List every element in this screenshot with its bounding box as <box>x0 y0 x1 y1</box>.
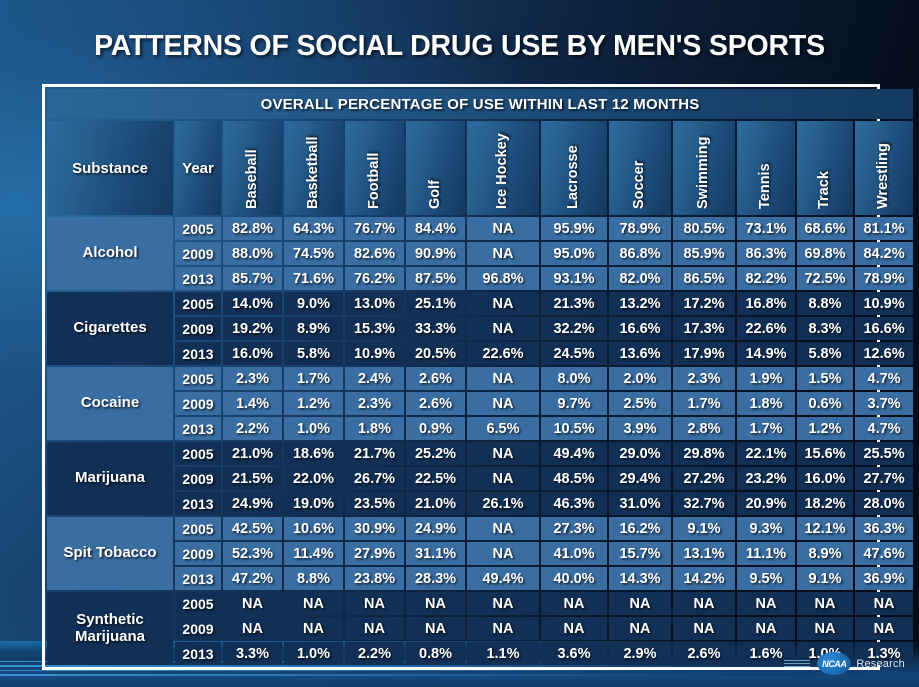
value-cell: 17.9% <box>673 342 735 365</box>
table-row: Cocaine20052.3%1.7%2.4%2.6%NA8.0%2.0%2.3… <box>47 367 913 390</box>
value-cell: 16.6% <box>855 317 913 340</box>
table-header-baseball: Baseball <box>223 121 282 215</box>
ncaa-research-logo: NCAA Research <box>784 652 905 675</box>
year-cell: 2009 <box>175 392 221 415</box>
value-cell: 9.1% <box>673 517 735 540</box>
value-cell: 9.3% <box>737 517 795 540</box>
value-cell: 2.6% <box>406 367 465 390</box>
value-cell: 24.5% <box>541 342 607 365</box>
table-header-row: SubstanceYearBaseballBasketballFootballG… <box>47 121 913 215</box>
value-cell: 26.7% <box>345 467 404 490</box>
value-cell: 23.5% <box>345 492 404 515</box>
value-cell: 16.6% <box>609 317 671 340</box>
value-cell: 13.6% <box>609 342 671 365</box>
value-cell: 11.4% <box>284 542 343 565</box>
year-cell: 2013 <box>175 342 221 365</box>
value-cell: 1.9% <box>737 367 795 390</box>
table-row: 201347.2%8.8%23.8%28.3%49.4%40.0%14.3%14… <box>47 567 913 590</box>
value-cell: 76.7% <box>345 217 404 240</box>
value-cell: 1.8% <box>737 392 795 415</box>
value-cell: NA <box>467 442 539 465</box>
table-header-swimming: Swimming <box>673 121 735 215</box>
value-cell: 3.6% <box>541 642 607 665</box>
value-cell: 71.6% <box>284 267 343 290</box>
year-cell: 2009 <box>175 617 221 640</box>
table-head: OVERALL PERCENTAGE OF USE WITHIN LAST 12… <box>47 89 913 215</box>
value-cell: 40.0% <box>541 567 607 590</box>
value-cell: 49.4% <box>467 567 539 590</box>
table-header-tennis: Tennis <box>737 121 795 215</box>
table-body: Alcohol200582.8%64.3%76.7%84.4%NA95.9%78… <box>47 217 913 665</box>
value-cell: 13.0% <box>345 292 404 315</box>
value-cell: 1.8% <box>345 417 404 440</box>
year-cell: 2009 <box>175 242 221 265</box>
value-cell: 95.9% <box>541 217 607 240</box>
value-cell: 73.1% <box>737 217 795 240</box>
table-row: 20132.2%1.0%1.8%0.9%6.5%10.5%3.9%2.8%1.7… <box>47 417 913 440</box>
slide-canvas: PATTERNS OF SOCIAL DRUG USE BY MEN'S SPO… <box>0 0 919 687</box>
value-cell: NA <box>345 592 404 615</box>
value-cell: 20.9% <box>737 492 795 515</box>
value-cell: NA <box>467 542 539 565</box>
value-cell: 85.7% <box>223 267 282 290</box>
table-row: 201385.7%71.6%76.2%87.5%96.8%93.1%82.0%8… <box>47 267 913 290</box>
value-cell: 3.3% <box>223 642 282 665</box>
table-row: 200919.2%8.9%15.3%33.3%NA32.2%16.6%17.3%… <box>47 317 913 340</box>
value-cell: NA <box>467 592 539 615</box>
value-cell: 88.0% <box>223 242 282 265</box>
value-cell: 8.0% <box>541 367 607 390</box>
ncaa-mark-text: NCAA <box>822 659 846 669</box>
table-header-label: Ice Hockey <box>494 133 510 209</box>
value-cell: 13.2% <box>609 292 671 315</box>
value-cell: NA <box>737 617 795 640</box>
value-cell: 6.5% <box>467 417 539 440</box>
value-cell: 48.5% <box>541 467 607 490</box>
value-cell: 2.6% <box>673 642 735 665</box>
value-cell: 2.2% <box>223 417 282 440</box>
value-cell: 15.7% <box>609 542 671 565</box>
value-cell: 23.8% <box>345 567 404 590</box>
ncaa-badge-icon: NCAA <box>817 652 851 675</box>
value-cell: 81.1% <box>855 217 913 240</box>
value-cell: NA <box>737 592 795 615</box>
value-cell: 1.0% <box>284 417 343 440</box>
value-cell: 2.3% <box>223 367 282 390</box>
value-cell: 2.3% <box>673 367 735 390</box>
value-cell: 14.0% <box>223 292 282 315</box>
value-cell: NA <box>541 617 607 640</box>
year-cell: 2013 <box>175 567 221 590</box>
value-cell: 10.5% <box>541 417 607 440</box>
logo-research-label: Research <box>856 658 905 670</box>
table-header-label: Substance <box>72 160 148 177</box>
table-header-year: Year <box>175 121 221 215</box>
value-cell: 10.9% <box>855 292 913 315</box>
value-cell: NA <box>797 617 853 640</box>
value-cell: 2.3% <box>345 392 404 415</box>
value-cell: 19.2% <box>223 317 282 340</box>
value-cell: NA <box>855 592 913 615</box>
value-cell: NA <box>284 617 343 640</box>
table-row: 201316.0%5.8%10.9%20.5%22.6%24.5%13.6%17… <box>47 342 913 365</box>
value-cell: 0.9% <box>406 417 465 440</box>
value-cell: 27.9% <box>345 542 404 565</box>
value-cell: NA <box>406 592 465 615</box>
value-cell: 2.0% <box>609 367 671 390</box>
value-cell: 86.3% <box>737 242 795 265</box>
table-row: Cigarettes200514.0%9.0%13.0%25.1%NA21.3%… <box>47 292 913 315</box>
slide-title: PATTERNS OF SOCIAL DRUG USE BY MEN'S SPO… <box>0 30 919 63</box>
value-cell: 27.3% <box>541 517 607 540</box>
value-cell: 78.9% <box>609 217 671 240</box>
value-cell: NA <box>467 317 539 340</box>
value-cell: 95.0% <box>541 242 607 265</box>
value-cell: NA <box>797 592 853 615</box>
value-cell: 29.0% <box>609 442 671 465</box>
value-cell: 41.0% <box>541 542 607 565</box>
year-cell: 2013 <box>175 417 221 440</box>
value-cell: 21.5% <box>223 467 282 490</box>
value-cell: 13.1% <box>673 542 735 565</box>
table-row: 2009NANANANANANANANANANANA <box>47 617 913 640</box>
value-cell: 68.6% <box>797 217 853 240</box>
value-cell: 28.3% <box>406 567 465 590</box>
year-cell: 2005 <box>175 592 221 615</box>
value-cell: 2.4% <box>345 367 404 390</box>
table-header-label: Track <box>816 171 832 209</box>
value-cell: 76.2% <box>345 267 404 290</box>
value-cell: 47.2% <box>223 567 282 590</box>
value-cell: 33.3% <box>406 317 465 340</box>
value-cell: 29.8% <box>673 442 735 465</box>
data-table-frame: OVERALL PERCENTAGE OF USE WITHIN LAST 12… <box>42 84 880 670</box>
value-cell: 9.7% <box>541 392 607 415</box>
table-header-label: Wrestling <box>875 143 891 209</box>
table-header-substance: Substance <box>47 121 173 215</box>
value-cell: 2.9% <box>609 642 671 665</box>
value-cell: 19.0% <box>284 492 343 515</box>
table-row: 200921.5%22.0%26.7%22.5%NA48.5%29.4%27.2… <box>47 467 913 490</box>
value-cell: 96.8% <box>467 267 539 290</box>
year-cell: 2005 <box>175 217 221 240</box>
value-cell: 2.2% <box>345 642 404 665</box>
value-cell: 3.9% <box>609 417 671 440</box>
table-row: 20091.4%1.2%2.3%2.6%NA9.7%2.5%1.7%1.8%0.… <box>47 392 913 415</box>
table-row: 200952.3%11.4%27.9%31.1%NA41.0%15.7%13.1… <box>47 542 913 565</box>
table-header-label: Basketball <box>305 136 321 209</box>
value-cell: 2.5% <box>609 392 671 415</box>
value-cell: 22.1% <box>737 442 795 465</box>
value-cell: NA <box>673 592 735 615</box>
year-cell: 2005 <box>175 292 221 315</box>
value-cell: 12.1% <box>797 517 853 540</box>
substance-label: Cocaine <box>47 367 173 440</box>
value-cell: 82.8% <box>223 217 282 240</box>
value-cell: NA <box>467 367 539 390</box>
value-cell: 1.0% <box>284 642 343 665</box>
value-cell: 9.5% <box>737 567 795 590</box>
value-cell: 16.0% <box>797 467 853 490</box>
value-cell: 14.3% <box>609 567 671 590</box>
table-header-label: Football <box>366 153 382 209</box>
value-cell: 26.1% <box>467 492 539 515</box>
value-cell: 32.2% <box>541 317 607 340</box>
value-cell: NA <box>673 617 735 640</box>
year-cell: 2009 <box>175 542 221 565</box>
substance-label: Marijuana <box>47 442 173 515</box>
value-cell: 72.5% <box>797 267 853 290</box>
value-cell: 15.3% <box>345 317 404 340</box>
value-cell: 23.2% <box>737 467 795 490</box>
value-cell: 8.9% <box>797 542 853 565</box>
year-cell: 2005 <box>175 442 221 465</box>
value-cell: 28.0% <box>855 492 913 515</box>
table-header-lacrosse: Lacrosse <box>541 121 607 215</box>
table-header-label: Year <box>182 160 214 177</box>
substance-label: Alcohol <box>47 217 173 290</box>
value-cell: 49.4% <box>541 442 607 465</box>
value-cell: 16.2% <box>609 517 671 540</box>
table-header-label: Tennis <box>757 163 773 209</box>
value-cell: 74.5% <box>284 242 343 265</box>
value-cell: 69.8% <box>797 242 853 265</box>
value-cell: 87.5% <box>406 267 465 290</box>
table-header-label: Soccer <box>631 161 647 209</box>
value-cell: 32.7% <box>673 492 735 515</box>
value-cell: 12.6% <box>855 342 913 365</box>
footer-stripe-line <box>0 670 919 671</box>
year-cell: 2013 <box>175 492 221 515</box>
value-cell: 31.1% <box>406 542 465 565</box>
value-cell: 21.0% <box>406 492 465 515</box>
value-cell: 84.4% <box>406 217 465 240</box>
table-header-ice-hockey: Ice Hockey <box>467 121 539 215</box>
table-row: Marijuana200521.0%18.6%21.7%25.2%NA49.4%… <box>47 442 913 465</box>
value-cell: NA <box>406 617 465 640</box>
value-cell: 27.2% <box>673 467 735 490</box>
value-cell: 84.2% <box>855 242 913 265</box>
table-banner-title: OVERALL PERCENTAGE OF USE WITHIN LAST 12… <box>47 89 913 119</box>
year-cell: 2009 <box>175 467 221 490</box>
value-cell: 5.8% <box>797 342 853 365</box>
value-cell: 82.2% <box>737 267 795 290</box>
year-cell: 2013 <box>175 267 221 290</box>
value-cell: 86.8% <box>609 242 671 265</box>
value-cell: 85.9% <box>673 242 735 265</box>
value-cell: 11.1% <box>737 542 795 565</box>
value-cell: 1.7% <box>284 367 343 390</box>
value-cell: NA <box>609 617 671 640</box>
value-cell: 22.6% <box>737 317 795 340</box>
value-cell: 24.9% <box>406 517 465 540</box>
value-cell: 29.4% <box>609 467 671 490</box>
value-cell: 47.6% <box>855 542 913 565</box>
table-header-basketball: Basketball <box>284 121 343 215</box>
value-cell: NA <box>223 592 282 615</box>
table-row: 20133.3%1.0%2.2%0.8%1.1%3.6%2.9%2.6%1.6%… <box>47 642 913 665</box>
value-cell: NA <box>855 617 913 640</box>
table-row: Spit Tobacco200542.5%10.6%30.9%24.9%NA27… <box>47 517 913 540</box>
value-cell: 86.5% <box>673 267 735 290</box>
value-cell: 2.6% <box>406 392 465 415</box>
value-cell: NA <box>284 592 343 615</box>
value-cell: 15.6% <box>797 442 853 465</box>
substance-label: Cigarettes <box>47 292 173 365</box>
substance-label: Spit Tobacco <box>47 517 173 590</box>
value-cell: 0.6% <box>797 392 853 415</box>
value-cell: 52.3% <box>223 542 282 565</box>
value-cell: 17.2% <box>673 292 735 315</box>
value-cell: 8.9% <box>284 317 343 340</box>
value-cell: NA <box>541 592 607 615</box>
table-header-label: Baseball <box>244 149 260 209</box>
value-cell: 16.0% <box>223 342 282 365</box>
value-cell: 16.8% <box>737 292 795 315</box>
value-cell: 22.0% <box>284 467 343 490</box>
value-cell: 14.9% <box>737 342 795 365</box>
value-cell: NA <box>467 392 539 415</box>
logo-lines-icon <box>784 660 810 667</box>
table-row: Synthetic Marijuana2005NANANANANANANANAN… <box>47 592 913 615</box>
value-cell: 1.2% <box>797 417 853 440</box>
value-cell: 1.2% <box>284 392 343 415</box>
value-cell: 1.1% <box>467 642 539 665</box>
value-cell: 90.9% <box>406 242 465 265</box>
value-cell: 9.1% <box>797 567 853 590</box>
substance-use-table: OVERALL PERCENTAGE OF USE WITHIN LAST 12… <box>45 87 915 667</box>
value-cell: 64.3% <box>284 217 343 240</box>
value-cell: 17.3% <box>673 317 735 340</box>
value-cell: 78.9% <box>855 267 913 290</box>
value-cell: 9.0% <box>284 292 343 315</box>
value-cell: 82.0% <box>609 267 671 290</box>
table-header-track: Track <box>797 121 853 215</box>
table-header-football: Football <box>345 121 404 215</box>
footer-stripe-line <box>0 674 919 676</box>
value-cell: NA <box>467 217 539 240</box>
value-cell: NA <box>467 292 539 315</box>
value-cell: 21.7% <box>345 442 404 465</box>
value-cell: 1.4% <box>223 392 282 415</box>
value-cell: 3.7% <box>855 392 913 415</box>
value-cell: 1.7% <box>673 392 735 415</box>
value-cell: 25.1% <box>406 292 465 315</box>
value-cell: 22.5% <box>406 467 465 490</box>
value-cell: 36.9% <box>855 567 913 590</box>
table-row: 200988.0%74.5%82.6%90.9%NA95.0%86.8%85.9… <box>47 242 913 265</box>
value-cell: 18.2% <box>797 492 853 515</box>
value-cell: 31.0% <box>609 492 671 515</box>
value-cell: 30.9% <box>345 517 404 540</box>
value-cell: 80.5% <box>673 217 735 240</box>
value-cell: 25.5% <box>855 442 913 465</box>
value-cell: 42.5% <box>223 517 282 540</box>
value-cell: 1.5% <box>797 367 853 390</box>
table-header-golf: Golf <box>406 121 465 215</box>
value-cell: NA <box>609 592 671 615</box>
value-cell: 2.8% <box>673 417 735 440</box>
value-cell: 10.9% <box>345 342 404 365</box>
value-cell: 20.5% <box>406 342 465 365</box>
table-row: 201324.9%19.0%23.5%21.0%26.1%46.3%31.0%3… <box>47 492 913 515</box>
value-cell: 36.3% <box>855 517 913 540</box>
year-cell: 2005 <box>175 367 221 390</box>
value-cell: 21.3% <box>541 292 607 315</box>
value-cell: 25.2% <box>406 442 465 465</box>
value-cell: 4.7% <box>855 367 913 390</box>
value-cell: 82.6% <box>345 242 404 265</box>
value-cell: NA <box>467 467 539 490</box>
value-cell: 18.6% <box>284 442 343 465</box>
value-cell: 8.8% <box>797 292 853 315</box>
value-cell: NA <box>467 242 539 265</box>
value-cell: 22.6% <box>467 342 539 365</box>
value-cell: NA <box>345 617 404 640</box>
value-cell: 10.6% <box>284 517 343 540</box>
value-cell: 46.3% <box>541 492 607 515</box>
table-header-wrestling: Wrestling <box>855 121 913 215</box>
table-banner-row: OVERALL PERCENTAGE OF USE WITHIN LAST 12… <box>47 89 913 119</box>
value-cell: NA <box>467 517 539 540</box>
table-header-label: Lacrosse <box>565 145 581 209</box>
value-cell: 0.8% <box>406 642 465 665</box>
table-header-label: Swimming <box>695 136 711 209</box>
value-cell: 24.9% <box>223 492 282 515</box>
value-cell: 4.7% <box>855 417 913 440</box>
value-cell: 27.7% <box>855 467 913 490</box>
table-header-label: Golf <box>427 180 443 209</box>
year-cell: 2013 <box>175 642 221 665</box>
table-header-soccer: Soccer <box>609 121 671 215</box>
year-cell: 2009 <box>175 317 221 340</box>
value-cell: NA <box>223 617 282 640</box>
value-cell: 1.7% <box>737 417 795 440</box>
value-cell: 8.8% <box>284 567 343 590</box>
value-cell: 93.1% <box>541 267 607 290</box>
value-cell: 21.0% <box>223 442 282 465</box>
value-cell: 14.2% <box>673 567 735 590</box>
value-cell: 8.3% <box>797 317 853 340</box>
value-cell: NA <box>467 617 539 640</box>
substance-label: Synthetic Marijuana <box>47 592 173 665</box>
value-cell: 5.8% <box>284 342 343 365</box>
year-cell: 2005 <box>175 517 221 540</box>
table-row: Alcohol200582.8%64.3%76.7%84.4%NA95.9%78… <box>47 217 913 240</box>
